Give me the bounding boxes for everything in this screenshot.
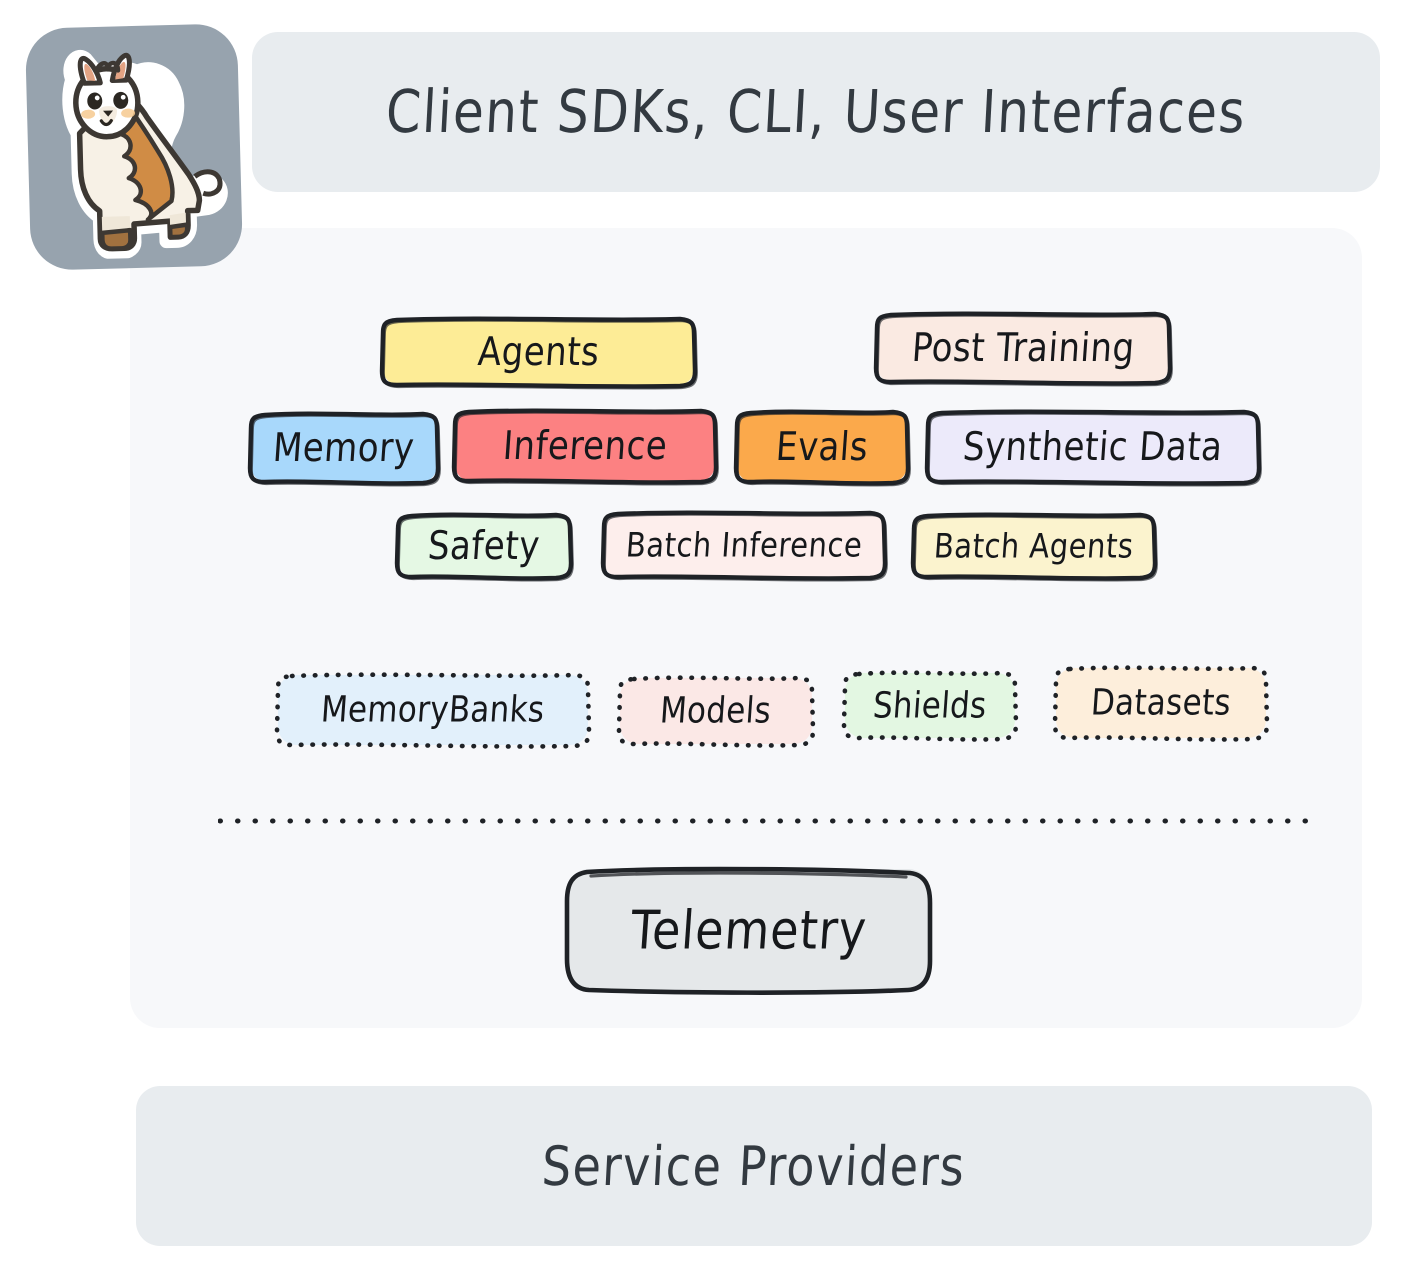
node-synthetic-data[interactable]: Synthetic Data xyxy=(928,412,1258,482)
node-batch-agents-label: Batch Agents xyxy=(933,526,1135,565)
node-memory-label: Memory xyxy=(272,425,417,471)
node-batch-inference[interactable]: Batch Inference xyxy=(604,513,884,577)
node-shields-label: Shields xyxy=(872,685,988,727)
node-inference-label: Inference xyxy=(501,423,669,469)
footer-title: Service Providers xyxy=(541,1134,968,1198)
dotted-divider xyxy=(218,818,1314,824)
node-batch-inference-label: Batch Inference xyxy=(624,525,863,564)
node-shields[interactable]: Shields xyxy=(845,673,1015,738)
node-datasets[interactable]: Datasets xyxy=(1056,668,1266,738)
node-agents-label: Agents xyxy=(476,329,601,375)
node-memory[interactable]: Memory xyxy=(251,414,437,482)
llama-logo-icon xyxy=(33,37,235,260)
node-models[interactable]: Models xyxy=(620,678,812,744)
node-memorybanks-label: MemoryBanks xyxy=(320,689,546,731)
node-post-training[interactable]: Post Training xyxy=(877,314,1169,382)
node-telemetry[interactable]: Telemetry xyxy=(567,869,930,991)
node-agents[interactable]: Agents xyxy=(383,319,694,385)
node-safety-label: Safety xyxy=(426,523,541,569)
node-batch-agents[interactable]: Batch Agents xyxy=(914,515,1154,577)
node-synthetic-data-label: Synthetic Data xyxy=(962,424,1225,470)
node-memorybanks[interactable]: MemoryBanks xyxy=(278,675,588,745)
node-safety[interactable]: Safety xyxy=(398,515,570,577)
node-evals[interactable]: Evals xyxy=(737,412,907,482)
node-evals-label: Evals xyxy=(774,424,869,470)
header-band: Client SDKs, CLI, User Interfaces xyxy=(252,32,1380,192)
footer-band: Service Providers xyxy=(136,1086,1372,1246)
node-post-training-label: Post Training xyxy=(910,325,1136,371)
header-title: Client SDKs, CLI, User Interfaces xyxy=(384,78,1248,146)
node-models-label: Models xyxy=(659,690,773,732)
diagram-canvas: Client SDKs, CLI, User Interfaces xyxy=(0,0,1410,1268)
llama-logo-tile xyxy=(25,23,243,270)
node-telemetry-label: Telemetry xyxy=(628,899,868,962)
node-inference[interactable]: Inference xyxy=(455,411,715,481)
node-datasets-label: Datasets xyxy=(1090,682,1233,724)
